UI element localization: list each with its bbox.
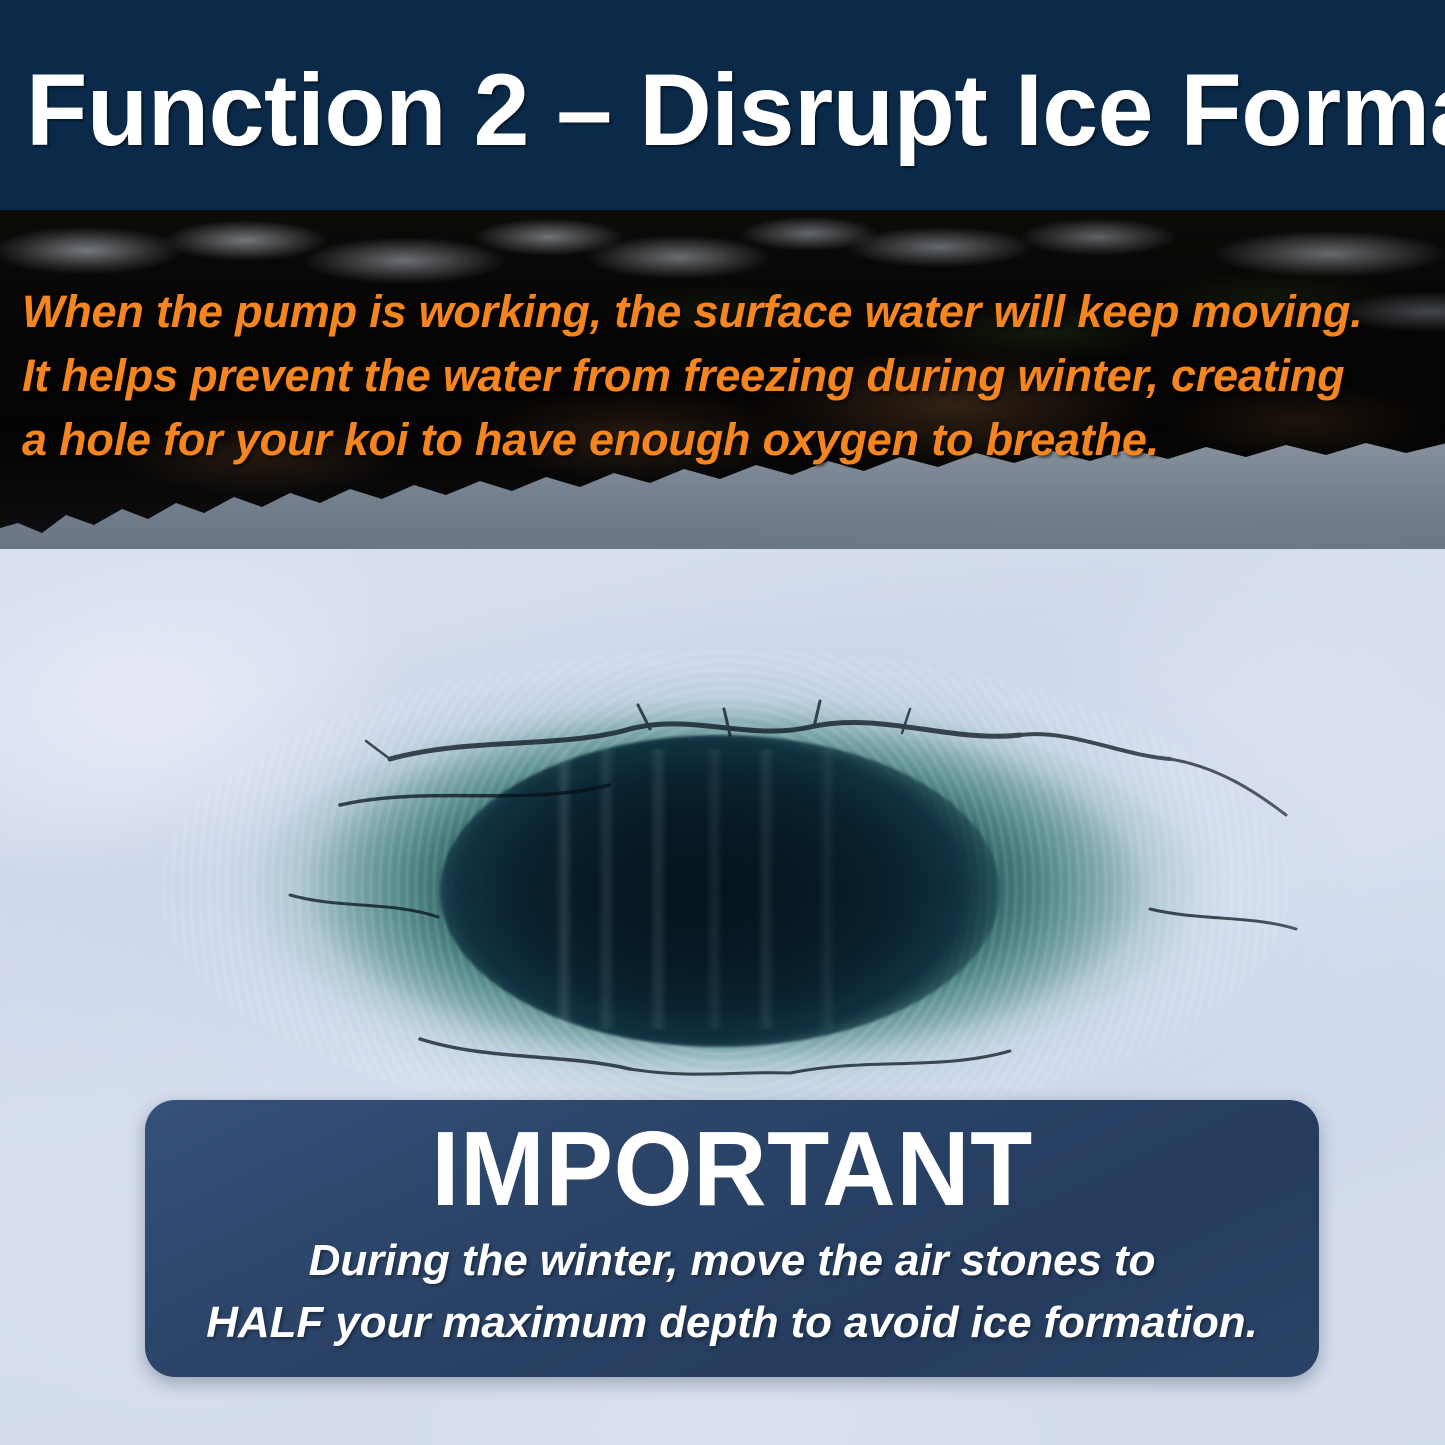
important-callout-box: IMPORTANT During the winter, move the ai…: [145, 1100, 1319, 1377]
winter-copy-block: When the pump is working, the surface wa…: [22, 280, 1422, 472]
infographic-canvas: When the pump is working, the surface wa…: [0, 0, 1445, 1445]
page-title: Function 2 – Disrupt Ice Formation: [26, 58, 1405, 162]
important-heading: IMPORTANT: [168, 1114, 1295, 1224]
winter-copy-line-2: It helps prevent the water from freezing…: [22, 344, 1422, 408]
winter-photo-band: When the pump is working, the surface wa…: [0, 210, 1445, 549]
important-subtext-line-2: HALF your maximum depth to avoid ice for…: [145, 1292, 1319, 1354]
important-subtext-line-1: During the winter, move the air stones t…: [145, 1230, 1319, 1292]
important-subtext-block: During the winter, move the air stones t…: [145, 1230, 1319, 1354]
header-bar: Function 2 – Disrupt Ice Formation: [0, 0, 1445, 210]
winter-copy-line-1: When the pump is working, the surface wa…: [22, 280, 1422, 344]
ice-crack-lines: [90, 609, 1360, 1169]
winter-copy-line-3: a hole for your koi to have enough oxyge…: [22, 408, 1422, 472]
